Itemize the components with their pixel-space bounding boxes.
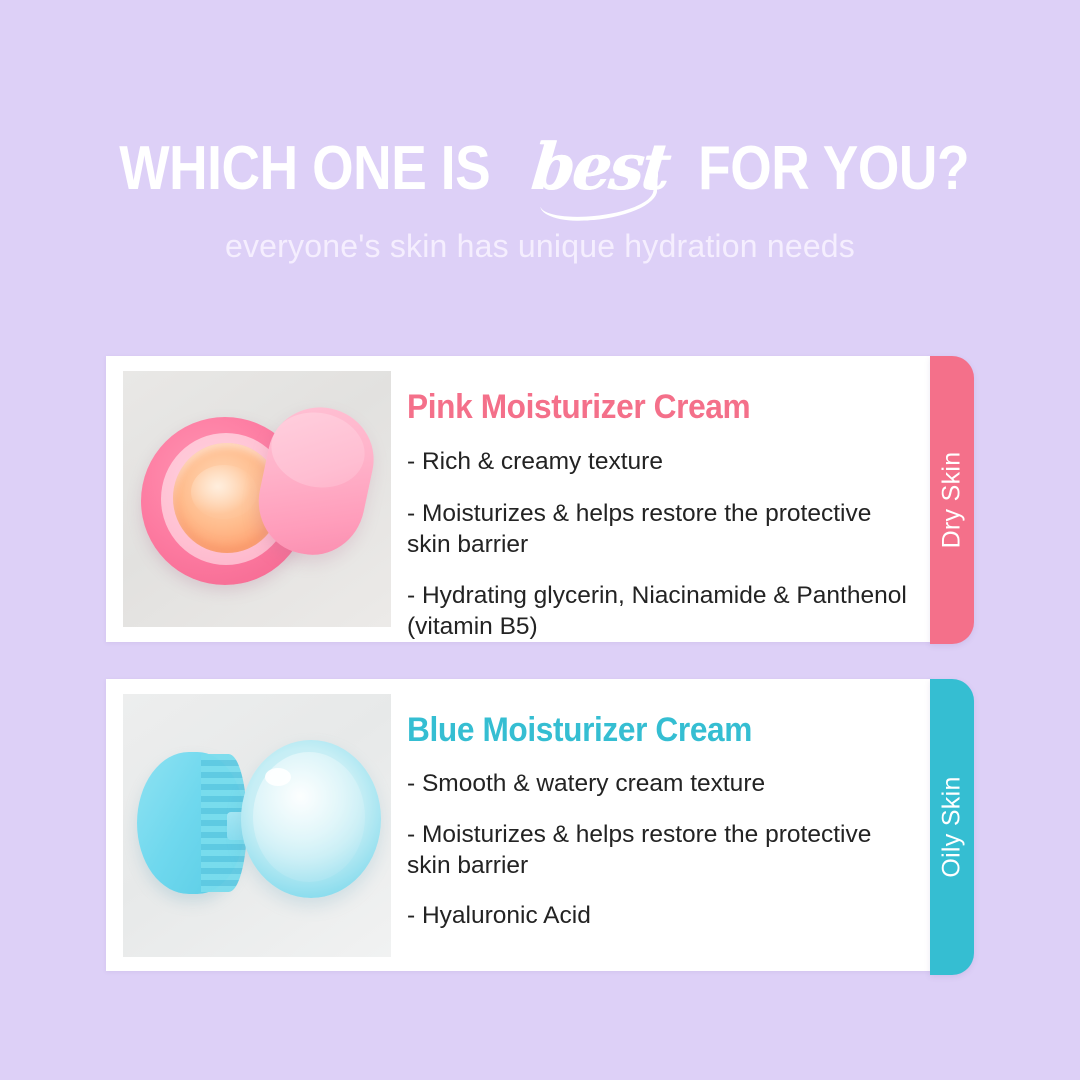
list-item: - Hydrating glycerin, Niacinamide & Pant…	[407, 580, 912, 642]
page-subtitle: everyone's skin has unique hydration nee…	[0, 228, 1080, 265]
product-card-blue[interactable]: Blue Moisturizer Cream - Smooth & watery…	[106, 679, 932, 971]
side-tab-oily-skin[interactable]: Oily Skin	[930, 679, 974, 975]
headline-part-1: WHICH ONE IS	[119, 138, 490, 200]
side-tab-label-oily-skin: Oily Skin	[938, 776, 967, 877]
blue-gel-highlight-shape	[265, 768, 291, 786]
headline-script-word: best	[529, 136, 672, 200]
list-item: - Smooth & watery cream texture	[407, 768, 912, 799]
product-card-pink[interactable]: Pink Moisturizer Cream - Rich & creamy t…	[106, 356, 932, 642]
list-item: - Rich & creamy texture	[407, 446, 912, 477]
card-text-pink: Pink Moisturizer Cream - Rich & creamy t…	[391, 371, 932, 642]
product-photo-pink	[123, 371, 391, 627]
header: WHICH ONE ISbestFOR YOU? everyone's skin…	[0, 0, 1080, 320]
product-title-blue: Blue Moisturizer Cream	[407, 712, 895, 749]
page-title: WHICH ONE ISbestFOR YOU?	[0, 136, 1080, 222]
product-photo-blue	[123, 694, 391, 957]
card-inner: Blue Moisturizer Cream - Smooth & watery…	[106, 679, 932, 971]
headline-part-2: FOR YOU?	[698, 138, 969, 200]
side-tab-dry-skin[interactable]: Dry Skin	[930, 356, 974, 644]
product-title-pink: Pink Moisturizer Cream	[407, 389, 895, 426]
side-tab-label-dry-skin: Dry Skin	[938, 452, 967, 549]
list-item: - Moisturizes & helps restore the protec…	[407, 498, 912, 560]
product-bullets-blue: - Smooth & watery cream texture - Moistu…	[407, 768, 932, 930]
card-inner: Pink Moisturizer Cream - Rich & creamy t…	[106, 356, 932, 642]
card-text-blue: Blue Moisturizer Cream - Smooth & watery…	[391, 694, 932, 931]
list-item: - Hyaluronic Acid	[407, 900, 912, 931]
product-bullets-pink: - Rich & creamy texture - Moisturizes & …	[407, 446, 932, 642]
pink-cream-swirl-shape	[191, 465, 257, 519]
list-item: - Moisturizes & helps restore the protec…	[407, 819, 912, 881]
